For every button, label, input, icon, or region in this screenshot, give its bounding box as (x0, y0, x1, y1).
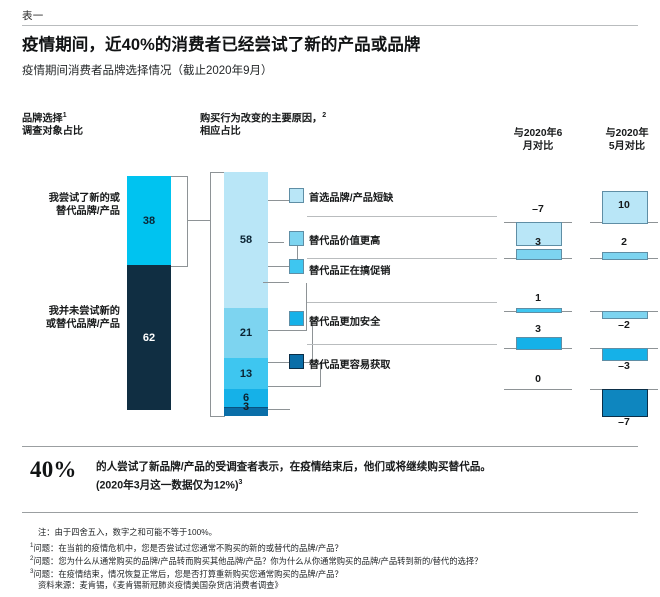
legend-label-promotion: 替代品正在搞促销 (309, 262, 391, 277)
col-head-line1: 购买行为改变的主要原因， (200, 113, 322, 124)
cmp1-bar-safer (516, 337, 562, 350)
cmp1-value-promotion: 1 (504, 292, 572, 304)
page-title: 疫情期间，近40%的消费者已经尝试了新的产品或品牌 (22, 31, 638, 55)
leader-line-8a (268, 409, 290, 410)
col-head-line2: 相应占比 (200, 126, 241, 137)
leader-line-7a (268, 386, 320, 387)
row-label-not-tried: 我并未尝试新的 或替代品牌/产品 (8, 305, 120, 331)
footnote-1: 1问题：在当前的疫情危机中，您是否尝试过您通常不购买的新的或替代的品牌/产品？ (30, 540, 343, 554)
cmp2-value-available: –7 (590, 416, 658, 428)
cmp2-bar-available (602, 389, 648, 417)
callout-percentage: 40% (30, 457, 77, 483)
leader-line-4a (263, 282, 289, 283)
footnote-marker-3: 3 (238, 479, 242, 486)
legend-divider-1 (307, 216, 497, 217)
bracket-stem (187, 220, 210, 221)
cmp2-bar-better-value (602, 252, 648, 260)
column-header-reasons: 购买行为改变的主要原因，2相应占比 (200, 110, 390, 138)
exhibit-sheet: 表一 疫情期间，近40%的消费者已经尝试了新的产品或品牌 疫情期间消费者品牌选择… (0, 0, 660, 597)
leader-line-5a (268, 330, 306, 331)
legend-divider-2 (307, 258, 497, 259)
bar-value-38: 38 (143, 215, 155, 227)
legend-swatch-shortage (289, 188, 304, 203)
bar-segment-promotion: 13 (224, 358, 268, 389)
cmp1-value-safer: 3 (504, 323, 572, 335)
bar-segment-not-tried: 62 (127, 265, 171, 410)
cmp2-value-safer: –3 (590, 360, 658, 372)
col-head-line2: 调查对象占比 (22, 126, 83, 137)
cmp1-value-shortage: –7 (504, 203, 572, 215)
cmp2-bar-promotion (602, 311, 648, 319)
callout-line-1: 的人尝试了新品牌/产品的受调查者表示，在疫情结束后，他们或将继续购买替代品。 (96, 461, 491, 473)
leader-line-2a (268, 242, 284, 243)
legend-swatch-safer (289, 311, 304, 326)
page-subtitle: 疫情期间消费者品牌选择情况（截止2020年9月） (22, 62, 638, 78)
column-header-brand-choice: 品牌选择1调查对象占比 (22, 110, 142, 138)
footnote-marker-2: 2 (322, 112, 326, 119)
cmp2-value-promotion: –2 (590, 319, 658, 331)
cmp1-bar-promotion (516, 308, 562, 313)
legend-swatch-better-value (289, 231, 304, 246)
reasons-stacked-bar: 58 21 13 6 (224, 172, 268, 415)
legend-label-shortage: 首选品牌/产品短缺 (309, 189, 393, 204)
legend-label-safer: 替代品更加安全 (309, 313, 380, 328)
footnote-2-text: 问题：您为什么从通常购买的品牌/产品转而购买其他品牌/产品？你为什么从你通常购买… (33, 556, 482, 566)
footnote-marker-1: 1 (63, 112, 67, 119)
bar-value-13: 13 (240, 368, 252, 380)
bar-segment-better-value: 21 (224, 308, 268, 358)
bar-segment-shortage: 58 (224, 172, 268, 308)
callout-rule-top (22, 446, 638, 447)
legend-divider-4 (307, 344, 497, 345)
column-header-compare-may: 与2020年 5月对比 (596, 128, 658, 153)
leader-line-1 (268, 200, 289, 201)
footnote-source: 资料来源：麦肯锡，《麦肯锡新冠肺炎疫情美国杂货店消费者调查》 (38, 580, 283, 591)
exhibit-label: 表一 (22, 8, 43, 23)
legend-divider-3 (307, 302, 497, 303)
legend-label-better-value: 替代品价值更高 (309, 232, 380, 247)
top-rule (22, 25, 638, 26)
leader-line-5v (306, 283, 307, 331)
cmp2-value-shortage: 10 (590, 199, 658, 211)
col-head-line1: 品牌选择 (22, 113, 63, 124)
footnote-3: 3问题：在疫情结束，情况恢复正常后，您是否打算重新购买您通常购买的品牌/产品？ (30, 566, 343, 580)
callout-line-2: (2020年3月这一数据仅为12%) (96, 480, 238, 492)
bar-value-21: 21 (240, 327, 252, 339)
bracket-right-of-bar1 (171, 176, 188, 267)
bar-value-58: 58 (240, 234, 252, 246)
legend-swatch-promotion (289, 259, 304, 274)
footnote-note: 注：由于四舍五入，数字之和可能不等于100%。 (38, 527, 217, 538)
column-header-compare-june: 与2020年6 月对比 (504, 128, 572, 153)
bar-value-3: 3 (224, 401, 268, 413)
cmp1-bar-better-value (516, 249, 562, 260)
bar-segment-tried: 38 (127, 176, 171, 265)
cmp2-value-better-value: 2 (590, 236, 658, 248)
footnote-3-text: 问题：在疫情结束，情况恢复正常后，您是否打算重新购买您通常购买的品牌/产品？ (33, 569, 342, 579)
cmp1-value-better-value: 3 (504, 236, 572, 248)
callout-text: 的人尝试了新品牌/产品的受调查者表示，在疫情结束后，他们或将继续购买替代品。 (… (96, 459, 636, 494)
brand-choice-stacked-bar: 38 62 (127, 176, 171, 410)
cmp1-value-available: 0 (504, 373, 572, 385)
legend-label-available: 替代品更容易获取 (309, 356, 391, 371)
bar-value-62: 62 (143, 332, 155, 344)
footnote-1-text: 问题：在当前的疫情危机中，您是否尝试过您通常不购买的新的或替代的品牌/产品？ (33, 543, 342, 553)
cmp1-baseline-5 (504, 389, 572, 390)
row-label-tried: 我尝试了新的或 替代品牌/产品 (8, 192, 120, 218)
legend-swatch-available (289, 354, 304, 369)
footnote-2: 2问题：您为什么从通常购买的品牌/产品转而购买其他品牌/产品？你为什么从你通常购… (30, 553, 482, 567)
bracket-left-of-bar2 (210, 172, 225, 417)
callout-rule-bottom (22, 512, 638, 513)
